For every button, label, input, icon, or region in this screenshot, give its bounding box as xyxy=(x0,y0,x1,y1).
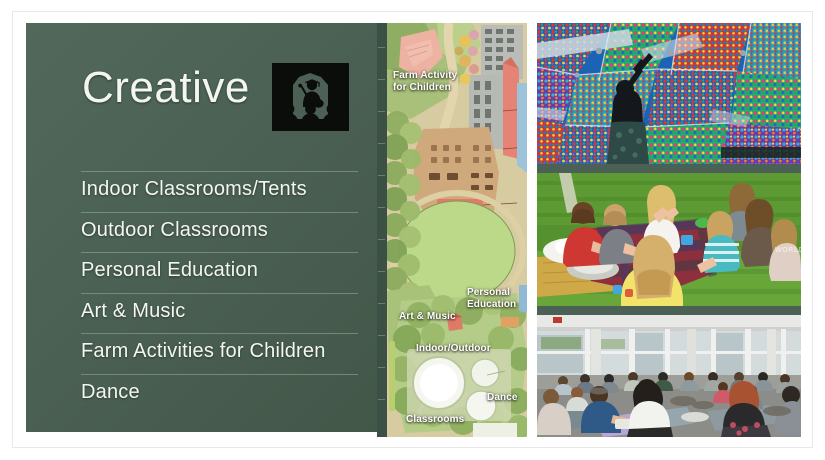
photo-column: WORLDS xyxy=(537,23,801,437)
list-item[interactable]: Farm Activities for Children xyxy=(81,333,358,374)
title-row: Creative xyxy=(26,58,377,133)
site-plan-illustration[interactable]: Farm Activity for Children Personal Educ… xyxy=(377,23,527,437)
list-item-label: Art & Music xyxy=(81,300,185,323)
photo-divider xyxy=(537,306,801,315)
feature-list: Indoor Classrooms/Tents Outdoor Classroo… xyxy=(26,171,377,414)
list-item[interactable]: Indoor Classrooms/Tents xyxy=(81,171,358,212)
list-item-label: Farm Activities for Children xyxy=(81,340,326,363)
photo-art-canopy[interactable] xyxy=(537,23,801,164)
photo-indoor-yoga-class[interactable] xyxy=(537,315,801,437)
list-item[interactable]: Art & Music xyxy=(81,293,358,334)
list-item[interactable]: Outdoor Classrooms xyxy=(81,212,358,253)
slide-frame: Creative xyxy=(12,11,813,448)
page-title: Creative xyxy=(82,58,250,118)
photo-children-picnic[interactable]: WORLDS xyxy=(537,173,801,306)
list-item-label: Dance xyxy=(81,381,140,404)
photo-divider xyxy=(537,164,801,173)
list-item-label: Indoor Classrooms/Tents xyxy=(81,178,307,201)
slide-canvas: Creative xyxy=(26,23,801,437)
list-item-label: Personal Education xyxy=(81,259,258,282)
map-ruler-gutter xyxy=(377,23,387,437)
stage-performer-audience-icon xyxy=(272,63,349,131)
list-item-label: Outdoor Classrooms xyxy=(81,219,268,242)
list-item[interactable]: Personal Education xyxy=(81,252,358,293)
left-content-panel: Creative xyxy=(26,23,377,432)
list-item[interactable]: Dance xyxy=(81,374,358,415)
